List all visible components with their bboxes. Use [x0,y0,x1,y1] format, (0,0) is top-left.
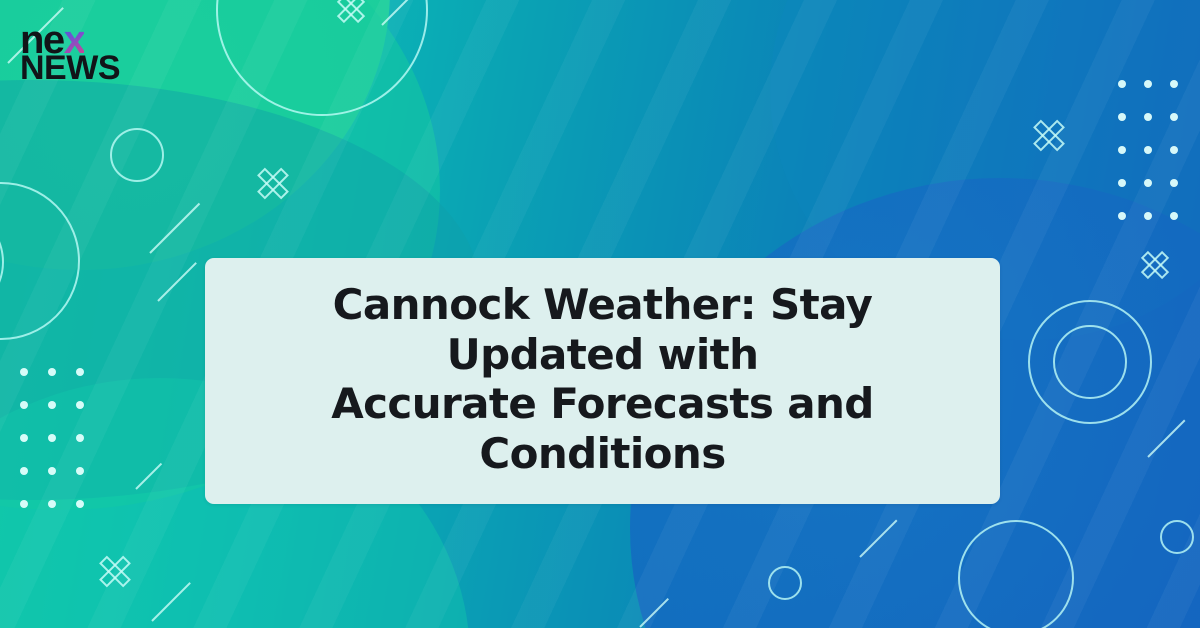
brand-logo[interactable]: nex NEWS [20,24,120,82]
dot-grid-bottom-left [20,368,84,508]
x-mark-top-center [334,0,368,26]
x-mark-upper-right [1030,116,1068,154]
banner-canvas: nex NEWS Cannock Weather: Stay Updated w… [0,0,1200,628]
x-mark-upper-mid-left [254,164,292,202]
circle-outline-bottom-center [768,566,802,600]
circle-outline-bottom-right-large [958,520,1074,628]
brand-logo-news: NEWS [20,54,120,83]
page-title: Cannock Weather: Stay Updated with Accur… [235,280,970,478]
dot-grid-top-right [1118,80,1178,220]
circle-outline-small-bottom-right [1160,520,1194,554]
x-mark-mid-right [1138,248,1172,282]
ring-inner-right [1053,325,1127,399]
x-mark-bottom-left [96,552,134,590]
circle-outline-small-left [110,128,164,182]
headline-card: Cannock Weather: Stay Updated with Accur… [205,258,1000,504]
